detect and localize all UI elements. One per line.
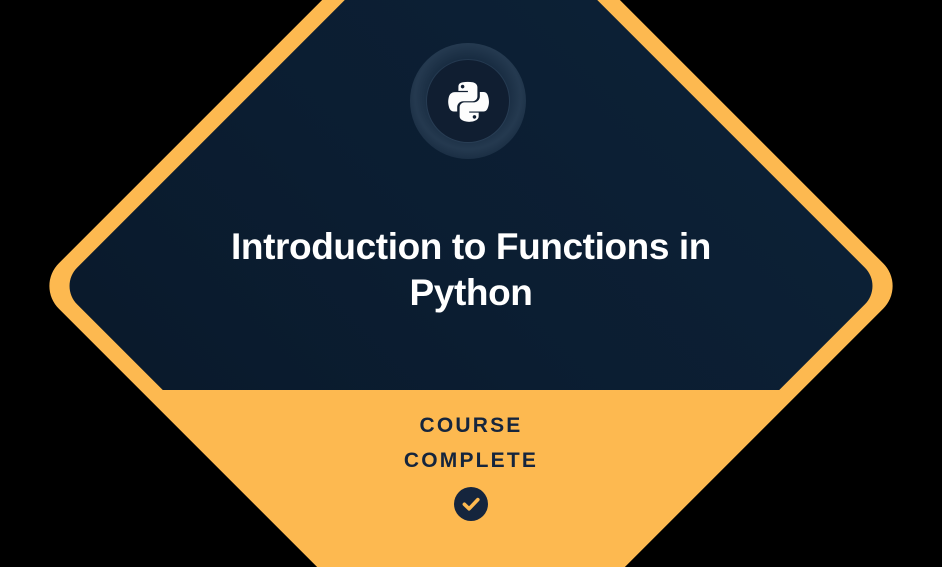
completion-status-text: COURSE COMPLETE: [271, 408, 671, 478]
python-logo-icon: [446, 79, 490, 123]
badge-stage: Introduction to Functions in Python COUR…: [0, 0, 942, 567]
check-circle-icon: [454, 487, 488, 521]
completion-block: COURSE COMPLETE: [271, 408, 671, 521]
course-title: Introduction to Functions in Python: [171, 224, 771, 316]
